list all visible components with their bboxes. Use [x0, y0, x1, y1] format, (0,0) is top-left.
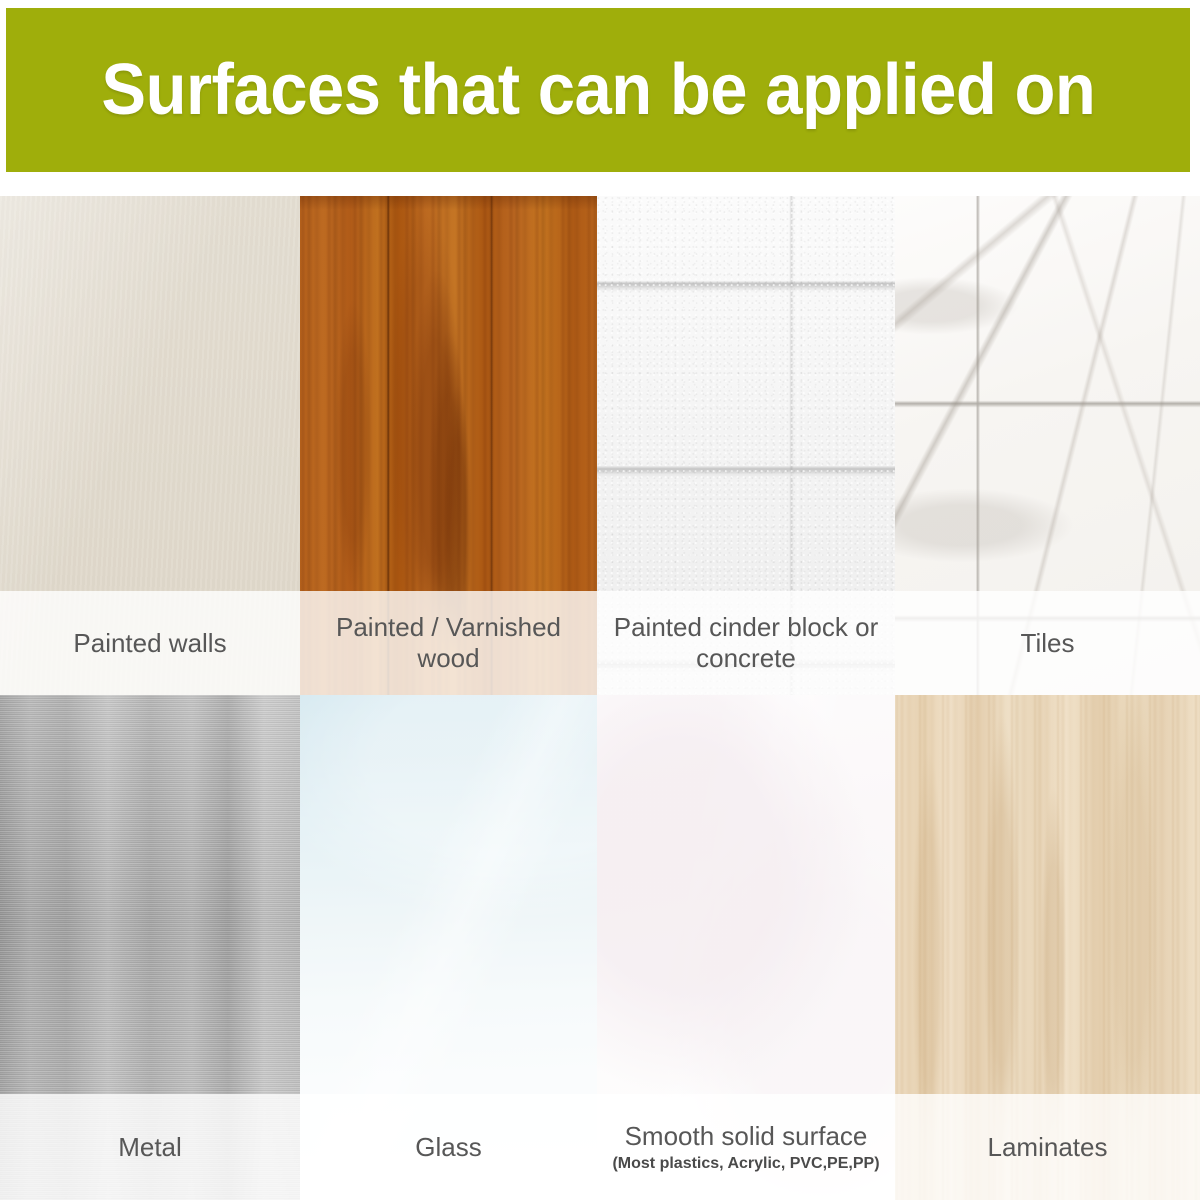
surface-grid: Painted walls Painted / Varnished wood P…: [0, 196, 1200, 1200]
header-banner: Surfaces that can be applied on: [6, 8, 1190, 172]
surface-cell-painted-varnished-wood[interactable]: Painted / Varnished wood: [300, 196, 597, 695]
surface-label-strip: Painted cinder block or concrete: [597, 591, 895, 695]
surface-cell-glass[interactable]: Glass: [300, 695, 597, 1200]
surface-label-strip: Laminates: [895, 1094, 1200, 1200]
page-title: Surfaces that can be applied on: [101, 54, 1095, 126]
surface-label: Laminates: [988, 1132, 1108, 1163]
surface-cell-tiles[interactable]: Tiles: [895, 196, 1200, 695]
surface-cell-painted-walls[interactable]: Painted walls: [0, 196, 300, 695]
surface-label-strip: Smooth solid surface (Most plastics, Acr…: [597, 1094, 895, 1200]
surface-label-strip: Painted / Varnished wood: [300, 591, 597, 695]
surface-label: Smooth solid surface: [625, 1121, 868, 1152]
surface-label: Glass: [415, 1132, 481, 1163]
surface-sublabel: (Most plastics, Acrylic, PVC,PE,PP): [612, 1154, 879, 1173]
surface-label-strip: Metal: [0, 1094, 300, 1200]
surface-cell-metal[interactable]: Metal: [0, 695, 300, 1200]
surface-label-strip: Glass: [300, 1094, 597, 1200]
surface-label-strip: Painted walls: [0, 591, 300, 695]
surface-label: Tiles: [1021, 628, 1075, 659]
surface-cell-smooth-solid-surface[interactable]: Smooth solid surface (Most plastics, Acr…: [597, 695, 895, 1200]
surface-label: Painted walls: [73, 628, 226, 659]
surface-label: Metal: [118, 1132, 182, 1163]
surface-label: Painted cinder block or concrete: [607, 612, 885, 674]
surface-label-strip: Tiles: [895, 591, 1200, 695]
surface-cell-laminates[interactable]: Laminates: [895, 695, 1200, 1200]
surface-cell-painted-cinder-block-or-concrete[interactable]: Painted cinder block or concrete: [597, 196, 895, 695]
surface-label: Painted / Varnished wood: [310, 612, 587, 674]
surfaces-infographic: Surfaces that can be applied on Painted …: [0, 0, 1200, 1200]
